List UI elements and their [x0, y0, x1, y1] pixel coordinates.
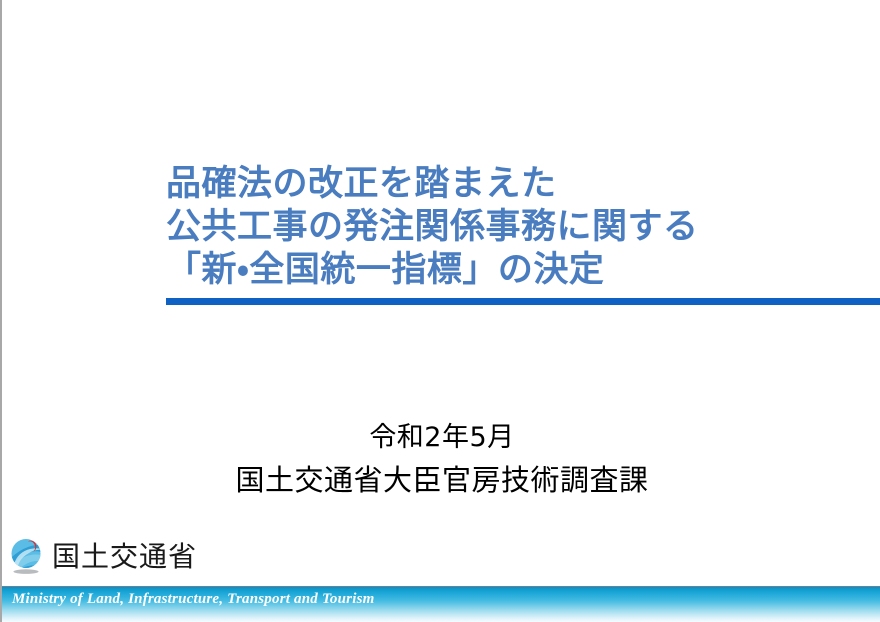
footer-gradient-band: Ministry of Land, Infrastructure, Transp… [2, 586, 880, 622]
title-line-3: 「新・全国統一指標」の決定 [166, 249, 880, 292]
slide-footer: 国土交通省 Ministry of Land, Infrastructure, … [2, 535, 880, 622]
mlit-globe-swirl-logo-icon [6, 538, 46, 575]
ministry-name-japanese: 国土交通省 [52, 540, 197, 574]
ministry-branding: 国土交通省 [6, 538, 197, 575]
issuing-organization: 国土交通省大臣官房技術調査課 [2, 458, 880, 502]
slide-subtitle: 令和2年5月 国土交通省大臣官房技術調査課 [2, 418, 880, 502]
publication-date: 令和2年5月 [2, 418, 880, 458]
title-line-2: 公共工事の発注関係事務に関する [166, 206, 880, 249]
title-underline-rule [166, 298, 880, 305]
slide-title: 品確法の改正を踏まえた 公共工事の発注関係事務に関する 「新・全国統一指標」の決… [166, 163, 880, 292]
presentation-slide: 品確法の改正を踏まえた 公共工事の発注関係事務に関する 「新・全国統一指標」の決… [0, 0, 880, 622]
title-line-1: 品確法の改正を踏まえた [166, 163, 880, 206]
ministry-name-english: Ministry of Land, Infrastructure, Transp… [12, 591, 374, 608]
